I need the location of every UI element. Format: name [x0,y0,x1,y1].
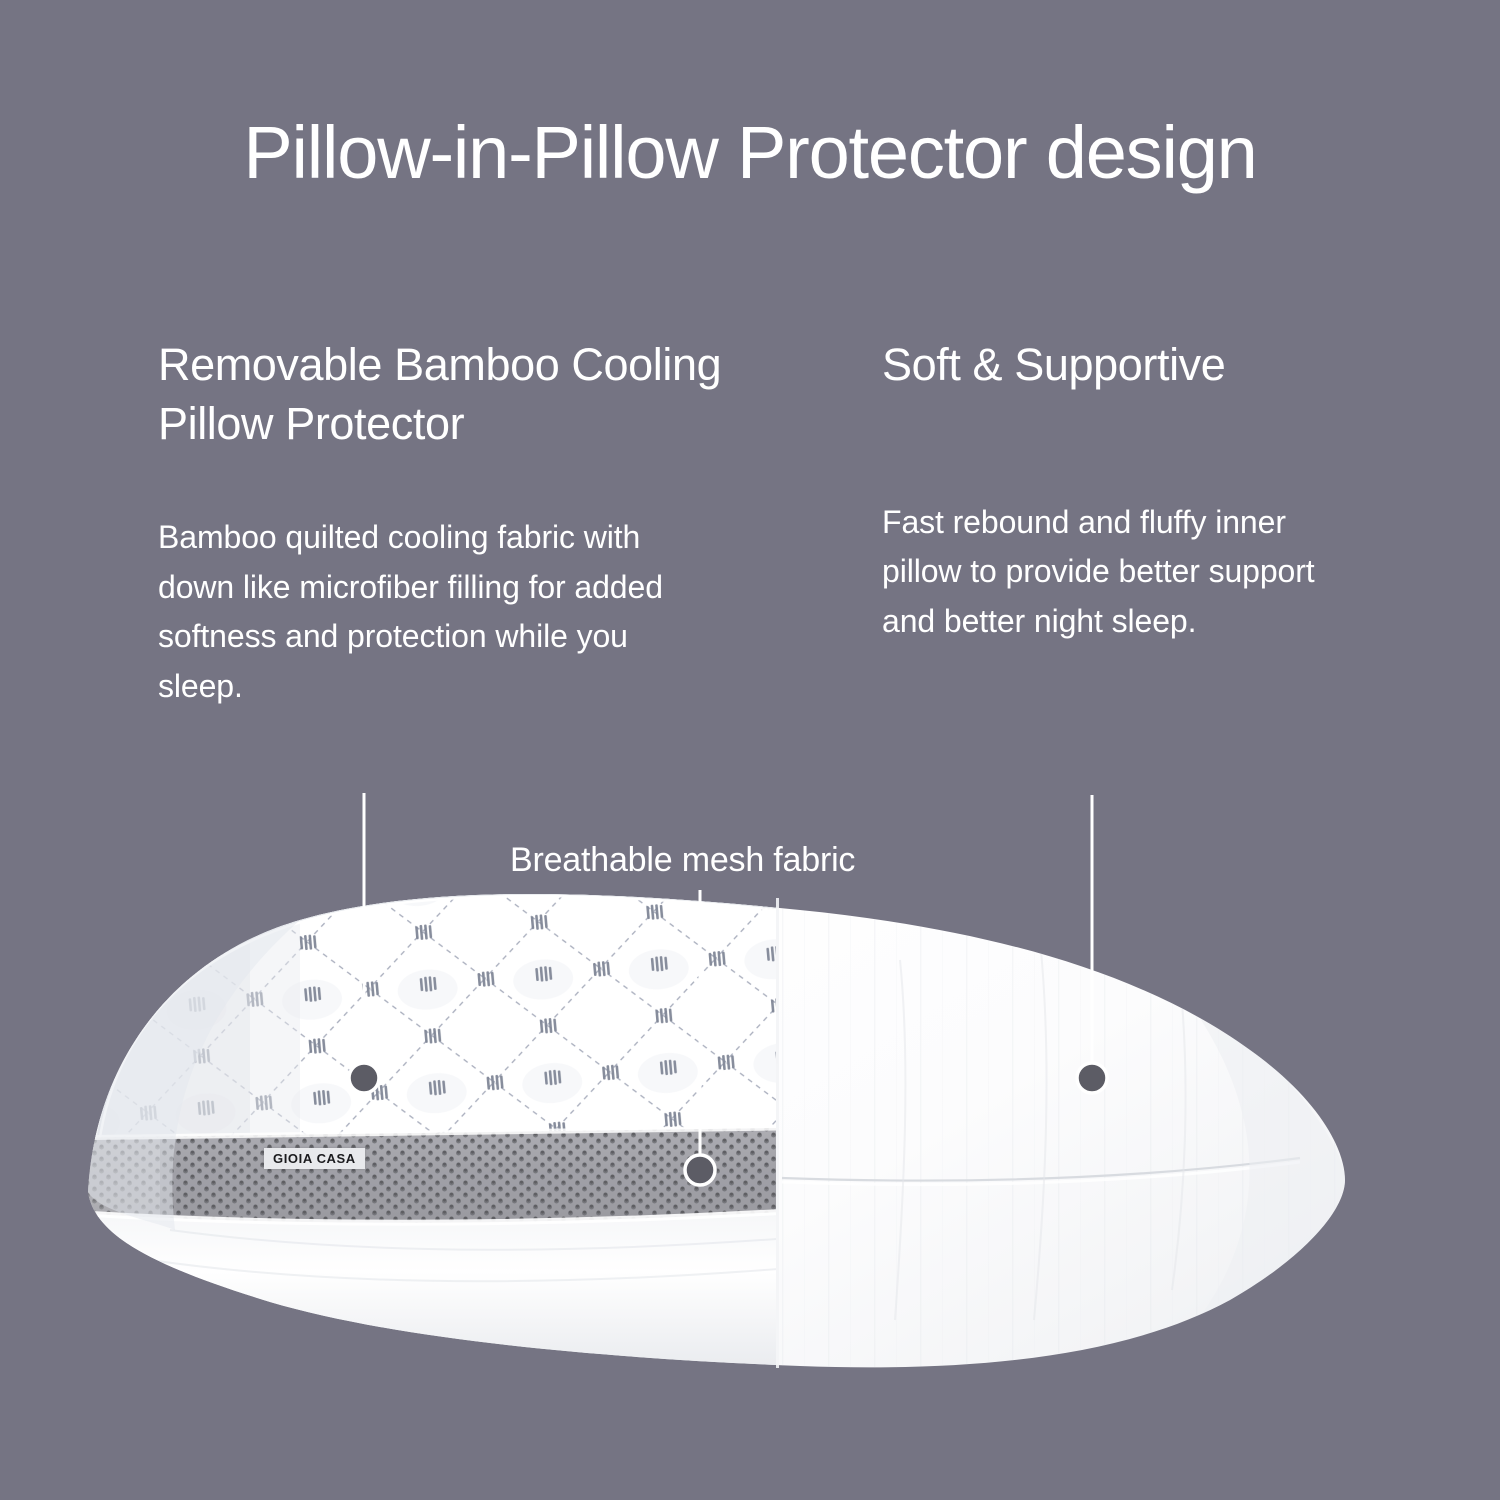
protector-cut-edge [776,898,779,1368]
pillow-body [0,760,1500,1380]
feature-column-support: Soft & Supportive Fast rebound and fluff… [882,336,1382,646]
infographic-canvas: Pillow-in-Pillow Protector design Remova… [0,0,1500,1500]
feature-body-protector: Bamboo quilted cooling fabric with down … [158,513,678,711]
feature-body-support: Fast rebound and fluffy inner pillow to … [882,498,1362,647]
page-title: Pillow-in-Pillow Protector design [0,116,1500,190]
feature-column-protector: Removable Bamboo Cooling Pillow Protecto… [158,336,798,711]
marker-breathable-mesh [685,1155,715,1185]
feature-heading-support: Soft & Supportive [882,336,1382,395]
feature-heading-protector: Removable Bamboo Cooling Pillow Protecto… [158,336,798,453]
pillow-illustration [0,760,1500,1380]
bamboo-protector [0,760,800,1380]
brand-tag: GIOIA CASA [264,1148,365,1169]
marker-inner-pillow [1077,1063,1107,1093]
marker-protector-fabric [349,1063,379,1093]
